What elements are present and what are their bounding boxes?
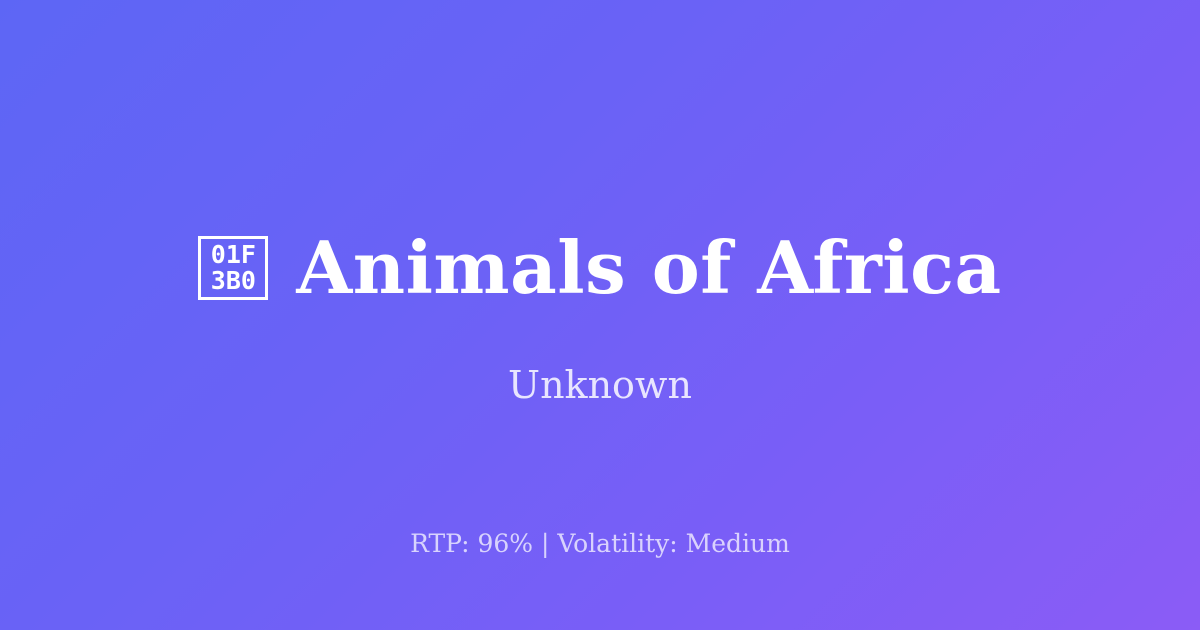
game-stats-line: RTP: 96% | Volatility: Medium: [0, 528, 1200, 559]
tofu-codepoint-top: 01F: [211, 242, 256, 269]
title-row: 01F 3B0 Animals of Africa: [0, 231, 1200, 306]
og-preview-card: 01F 3B0 Animals of Africa Unknown RTP: 9…: [0, 0, 1200, 630]
tofu-codepoint-bottom: 3B0: [211, 268, 256, 295]
page-title: Animals of Africa: [296, 231, 1001, 306]
provider-subtitle: Unknown: [0, 363, 1200, 409]
slot-machine-emoji-tofu-icon: 01F 3B0: [198, 236, 268, 300]
